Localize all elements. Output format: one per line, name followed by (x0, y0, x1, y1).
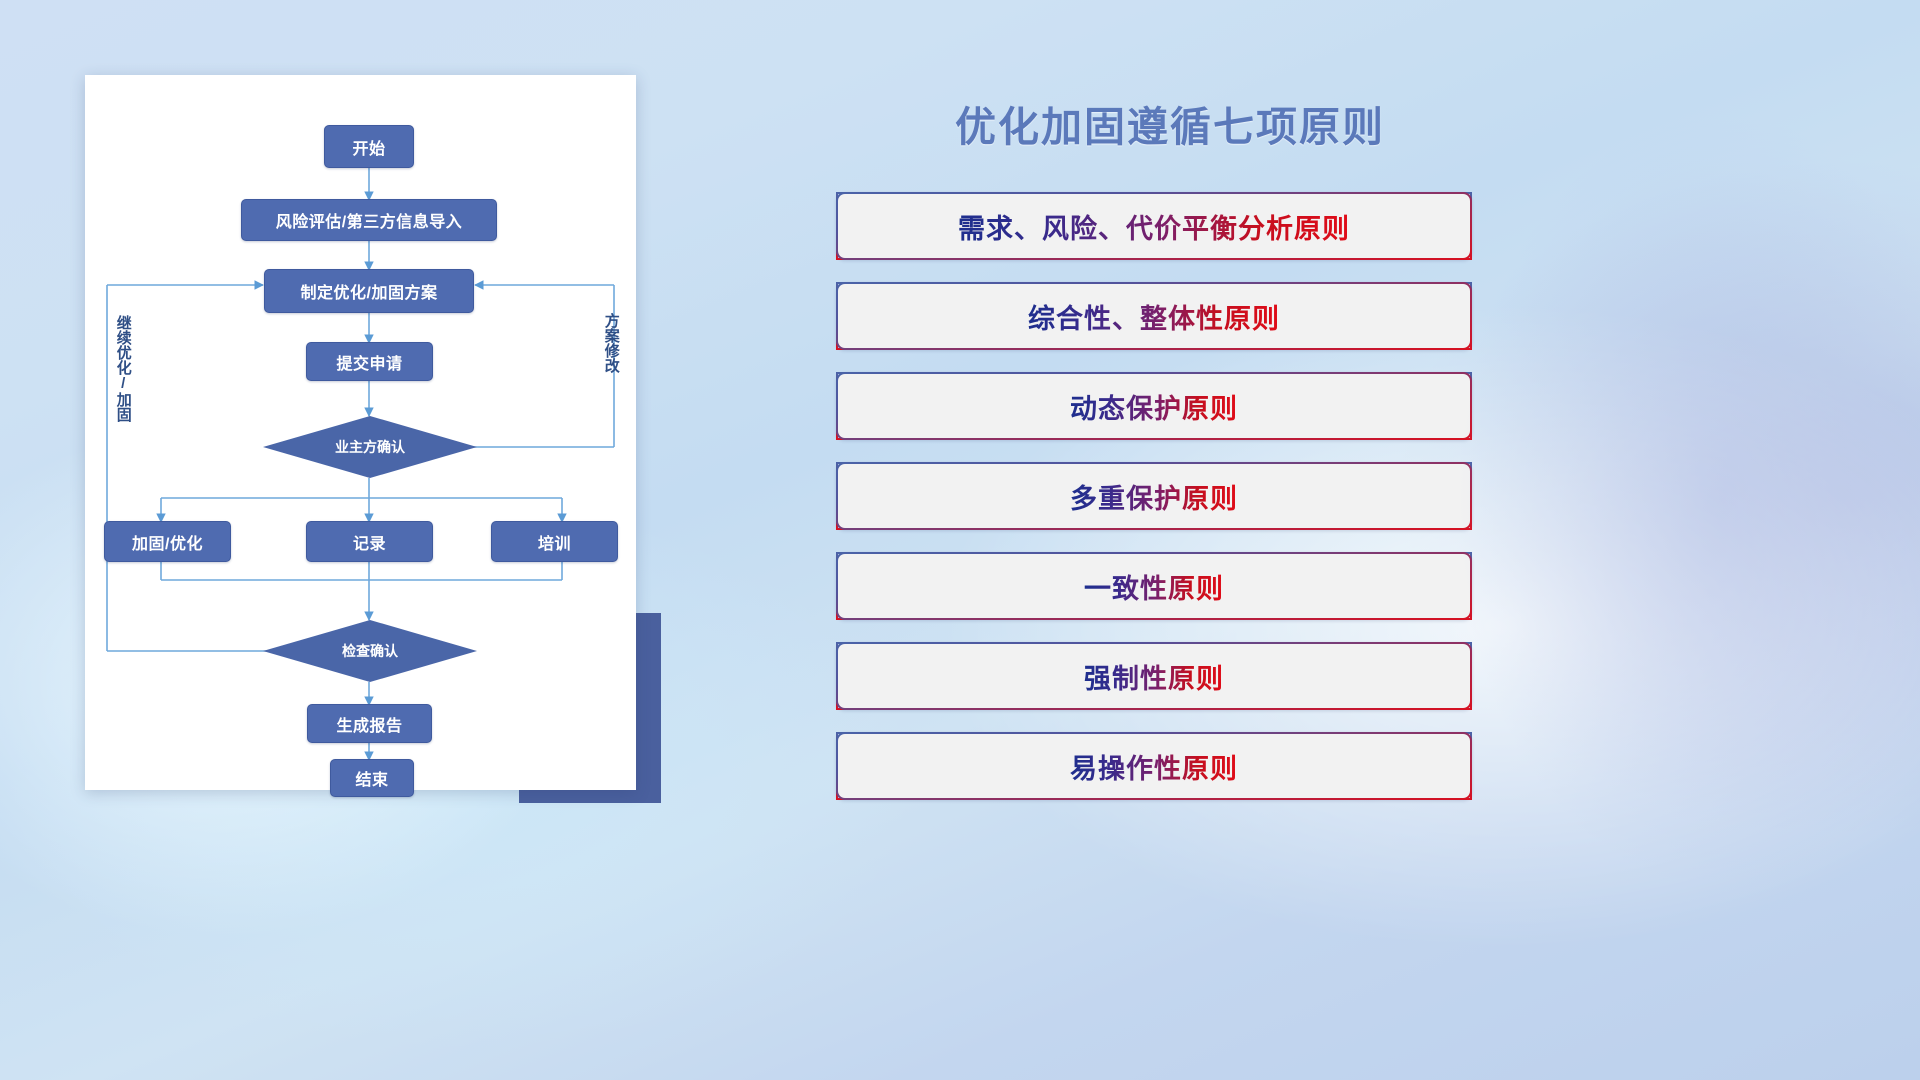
flowchart-card: 开始 风险评估/第三方信息导入 制定优化/加固方案 提交申请 业主方确认 加固/… (85, 75, 636, 790)
principle-label: 易操作性原则 (1070, 747, 1238, 786)
principle-item-5[interactable]: 一致性原则 (836, 552, 1472, 620)
flow-node-start[interactable]: 开始 (324, 125, 414, 168)
principle-label: 需求、风险、代价平衡分析原则 (958, 207, 1350, 246)
principle-item-2[interactable]: 综合性、整体性原则 (836, 282, 1472, 350)
flow-node-label: 提交申请 (336, 350, 402, 374)
principle-label: 综合性、整体性原则 (1028, 297, 1280, 336)
flow-node-record[interactable]: 记录 (306, 521, 433, 562)
flow-edge-label-revise-plan: 方案修改 (603, 313, 619, 373)
flow-node-label: 培训 (538, 530, 571, 554)
flow-node-training[interactable]: 培训 (491, 521, 618, 562)
principle-label: 多重保护原则 (1070, 477, 1238, 516)
flow-node-reinforce[interactable]: 加固/优化 (104, 521, 231, 562)
principle-item-3[interactable]: 动态保护原则 (836, 372, 1472, 440)
flow-node-label: 开始 (352, 135, 385, 159)
principle-label: 强制性原则 (1084, 657, 1224, 696)
principles-list: 需求、风险、代价平衡分析原则 综合性、整体性原则 动态保护原则 多重保护原则 一… (836, 192, 1472, 822)
flow-node-label: 风险评估/第三方信息导入 (276, 208, 462, 232)
flow-node-label: 业主方确认 (335, 437, 405, 457)
flow-node-end[interactable]: 结束 (330, 759, 414, 797)
principle-label: 动态保护原则 (1070, 387, 1238, 426)
flow-node-label: 检查确认 (342, 641, 398, 661)
flow-node-generate-report[interactable]: 生成报告 (307, 704, 432, 743)
right-panel-title: 优化加固遵循七项原则 (830, 93, 1510, 153)
flow-node-label: 生成报告 (336, 712, 402, 736)
principle-item-4[interactable]: 多重保护原则 (836, 462, 1472, 530)
principle-item-7[interactable]: 易操作性原则 (836, 732, 1472, 800)
slide-canvas: 开始 风险评估/第三方信息导入 制定优化/加固方案 提交申请 业主方确认 加固/… (0, 0, 1920, 1080)
flow-node-submit-application[interactable]: 提交申请 (306, 342, 433, 381)
flow-node-risk-assessment[interactable]: 风险评估/第三方信息导入 (241, 199, 497, 241)
flow-node-label: 结束 (355, 766, 388, 790)
flow-node-label: 制定优化/加固方案 (301, 279, 438, 303)
principle-label: 一致性原则 (1084, 567, 1224, 606)
flow-edge-label-continue-optimize: 继续优化/加固 (115, 315, 131, 422)
flow-node-plan[interactable]: 制定优化/加固方案 (264, 269, 474, 313)
flow-node-label: 加固/优化 (132, 530, 203, 554)
principle-item-1[interactable]: 需求、风险、代价平衡分析原则 (836, 192, 1472, 260)
principle-item-6[interactable]: 强制性原则 (836, 642, 1472, 710)
flow-node-label: 记录 (353, 530, 386, 554)
